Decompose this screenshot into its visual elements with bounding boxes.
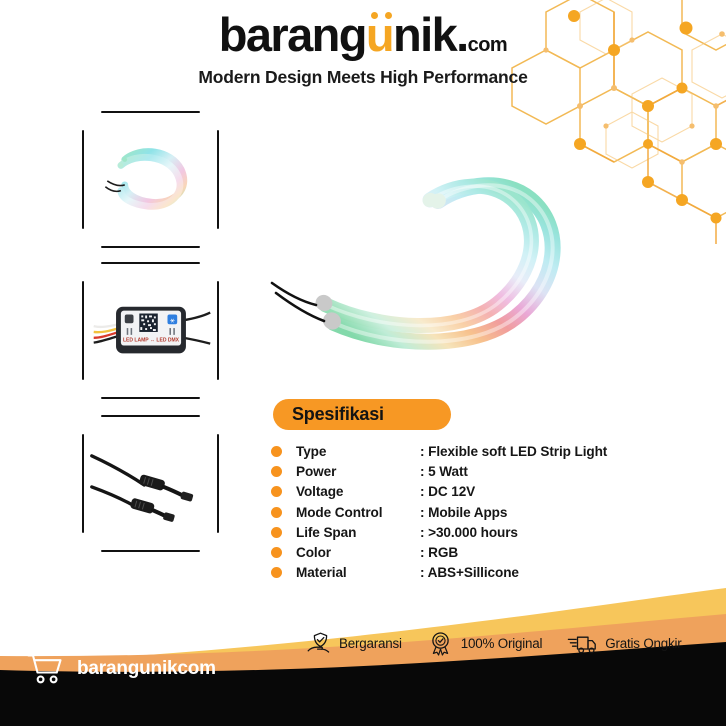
spec-value: : Mobile Apps: [420, 505, 507, 520]
spec-value: : RGB: [420, 545, 458, 560]
bluetooth-controller-thumbnail[interactable]: ⚹ LED LAMP ↔ LED DMX: [82, 262, 219, 399]
spesifikasi-badge-label: Spesifikasi: [292, 404, 384, 425]
bullet-dot-icon: [271, 567, 282, 578]
trust-badge-original: 100% Original: [427, 630, 543, 657]
spec-key: Power: [296, 464, 420, 479]
header: barangunik.com Modern Design Meets High …: [0, 10, 726, 88]
logo-text-part1: barang: [219, 8, 366, 61]
spec-row: Power : 5 Watt: [271, 464, 671, 484]
brand-tagline: Modern Design Meets High Performance: [0, 67, 726, 88]
led-strip-hero-image: [268, 165, 638, 380]
shield-hand-icon: [305, 630, 332, 657]
spec-row: Voltage : DC 12V: [271, 484, 671, 504]
connector-cables-thumbnail[interactable]: [82, 415, 219, 552]
spec-value: : 5 Watt: [420, 464, 468, 479]
product-marketing-image: barangunik.com Modern Design Meets High …: [0, 0, 726, 726]
spec-value: : ABS+Sillicone: [420, 565, 519, 580]
spec-key: Color: [296, 545, 420, 560]
bullet-dot-icon: [271, 547, 282, 558]
logo-text-part2: nik: [393, 8, 456, 61]
trust-badge-bergaransi: Bergaransi: [305, 630, 402, 657]
trust-badge-free-shipping: Gratis Ongkir: [567, 630, 681, 657]
logo-dot: .: [456, 8, 467, 61]
brand-logo: barangunik.com: [0, 10, 726, 60]
award-ribbon-icon: [427, 630, 454, 657]
delivery-truck-icon: [567, 630, 598, 657]
spec-row: Color : RGB: [271, 545, 671, 565]
trust-badge-label: Bergaransi: [339, 636, 402, 651]
bullet-dot-icon: [271, 486, 282, 497]
spec-key: Mode Control: [296, 505, 420, 520]
led-strip-pair-thumbnail[interactable]: [82, 111, 219, 248]
bullet-dot-icon: [271, 527, 282, 538]
smiley-eye-left-icon: [371, 12, 378, 19]
logo-com-suffix: com: [468, 34, 508, 56]
spec-row: Mode Control : Mobile Apps: [271, 505, 671, 525]
spec-key: Life Span: [296, 525, 420, 540]
footer-brand[interactable]: barangunikcom: [26, 652, 216, 686]
footer-brand-text: barangunikcom: [77, 658, 216, 680]
trust-badges: Bergaransi 100% Original: [305, 630, 682, 657]
trust-badge-label: Gratis Ongkir: [605, 636, 681, 651]
spec-value: : >30.000 hours: [420, 525, 518, 540]
spec-key: Type: [296, 444, 420, 459]
smiley-eye-right-icon: [385, 12, 392, 19]
spec-row: Type : Flexible soft LED Strip Light: [271, 444, 671, 464]
bullet-dot-icon: [271, 507, 282, 518]
spec-key: Material: [296, 565, 420, 580]
logo-smiley-u: u: [366, 10, 393, 60]
spec-key: Voltage: [296, 484, 420, 499]
spec-row: Life Span : >30.000 hours: [271, 525, 671, 545]
specification-list: Type : Flexible soft LED Strip Light Pow…: [271, 444, 671, 585]
shopping-cart-icon: [26, 652, 64, 686]
trust-badge-label: 100% Original: [461, 636, 543, 651]
spec-value: : Flexible soft LED Strip Light: [420, 444, 607, 459]
bullet-dot-icon: [271, 446, 282, 457]
controller-label: LED LAMP ↔ LED DMX: [123, 338, 180, 344]
bullet-dot-icon: [271, 466, 282, 477]
svg-text:⚹: ⚹: [170, 316, 175, 325]
spesifikasi-badge: Spesifikasi: [273, 399, 451, 430]
spec-value: : DC 12V: [420, 484, 475, 499]
spec-row: Material : ABS+Sillicone: [271, 565, 671, 585]
